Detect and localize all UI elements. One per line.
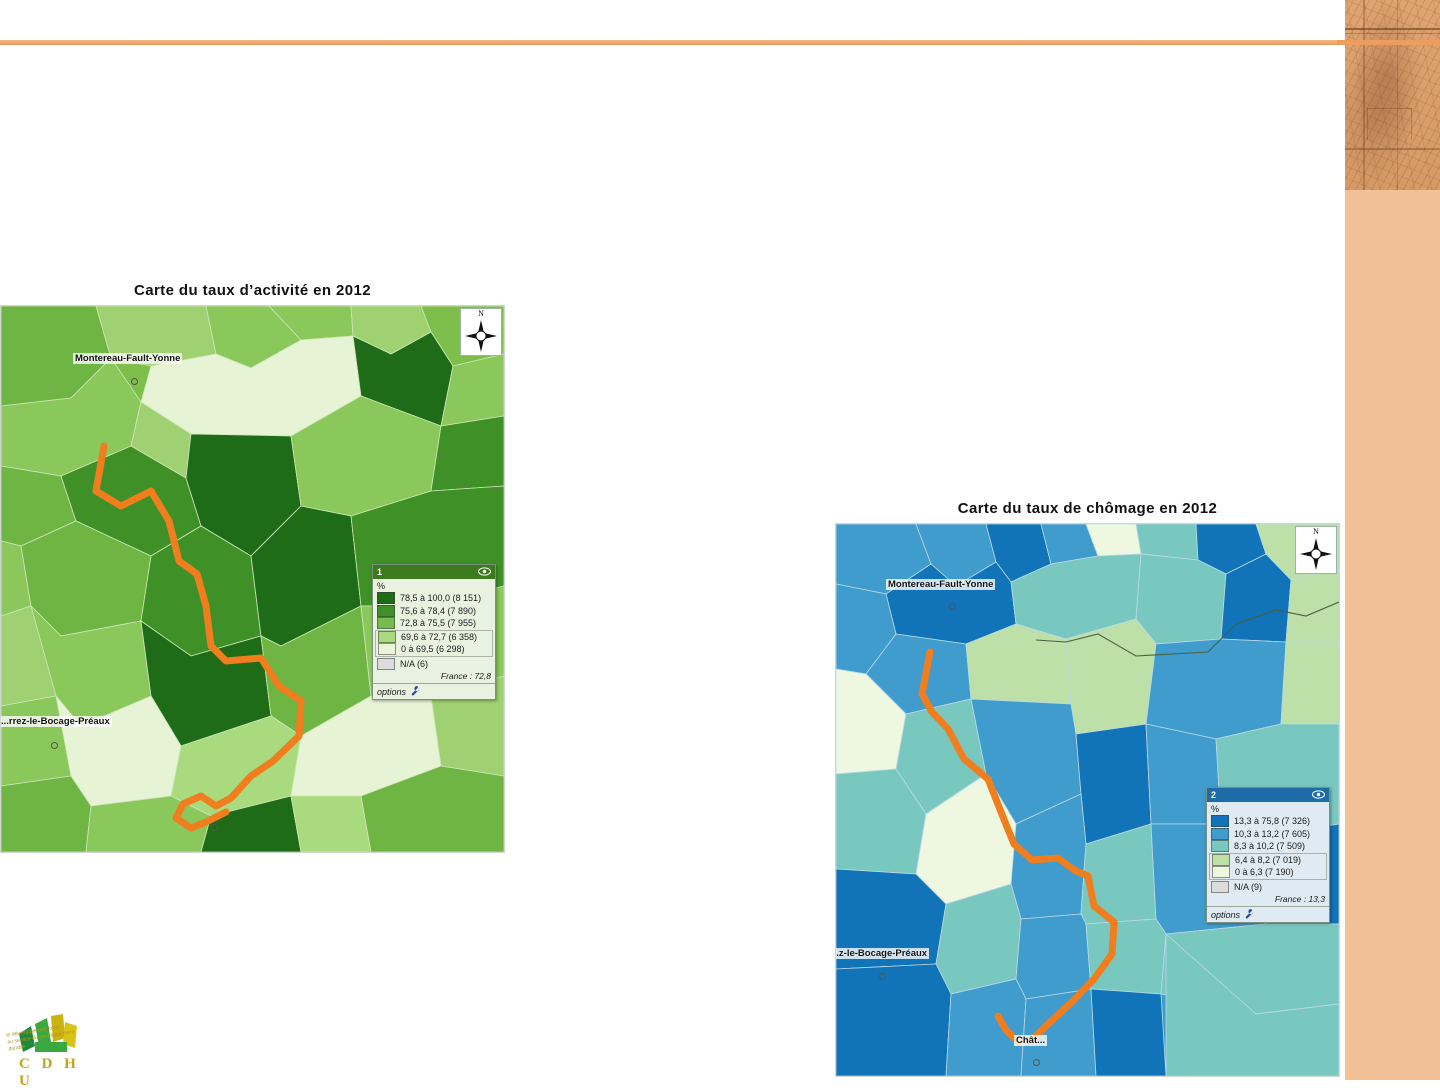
legend-national-value: France : 13,3 [1211, 893, 1325, 904]
legend-national-value: France : 72,8 [377, 670, 491, 681]
legend-swatch [1211, 881, 1229, 893]
legend-class-label: 6,4 à 8,2 (7 019) [1235, 855, 1301, 865]
city-label: ...z-le-Bocage-Préaux [835, 948, 929, 959]
legend-swatch [377, 605, 395, 617]
figure-taux-chomage: Carte du taux de chômage en 2012 [835, 500, 1340, 1077]
legend-class-row: 8,3 à 10,2 (7 509) [1211, 840, 1325, 853]
map-title-activite: Carte du taux d’activité en 2012 [0, 282, 505, 299]
legend-class-label: 13,3 à 75,8 (7 326) [1234, 816, 1310, 826]
header-accent-rule [0, 40, 1345, 45]
legend-class-label: 69,6 à 72,7 (6 358) [401, 632, 477, 642]
figure-taux-activite: Carte du taux d’activité en 2012 [0, 282, 505, 853]
antique-map-image [1345, 0, 1440, 190]
legend-swatch [378, 643, 396, 655]
legend-header[interactable]: 1 [373, 565, 495, 579]
legend-class-row: 13,3 à 75,8 (7 326) [1211, 815, 1325, 828]
city-dot [51, 742, 58, 749]
legend-number: 2 [1211, 790, 1216, 800]
city-label: Montereau-Fault-Yonne [886, 579, 995, 590]
legend-options-label: options [377, 687, 406, 697]
legend-class-row: 0 à 69,5 (6 298) [378, 643, 490, 656]
city-dot [131, 378, 138, 385]
compass-rose: N [1295, 526, 1337, 574]
legend-unit: % [377, 581, 491, 591]
city-dot [879, 973, 886, 980]
city-dot [211, 824, 218, 831]
legend-options-label: options [1211, 910, 1240, 920]
legend-class-label: 10,3 à 13,2 (7 605) [1234, 829, 1310, 839]
legend-class-row: 78,5 à 100,0 (8 151) [377, 592, 491, 605]
legend-swatch [378, 631, 396, 643]
city-label: Montereau-Fault-Yonne [73, 353, 182, 364]
wrench-icon[interactable] [410, 685, 421, 698]
legend-class-label: 0 à 69,5 (6 298) [401, 644, 465, 654]
legend-class-row: 6,4 à 8,2 (7 019) [1212, 854, 1324, 867]
legend-class-row: 69,6 à 72,7 (6 358) [378, 631, 490, 644]
map-canvas-chomage[interactable]: Montereau-Fault-Yonne ...z-le-Bocage-Pré… [835, 523, 1340, 1077]
legend-swatch [1212, 866, 1230, 878]
city-dot [949, 603, 956, 610]
legend-class-label: N/A (9) [1234, 882, 1262, 892]
map-canvas-activite[interactable]: Montereau-Fault-Yonne ...rrez-le-Bocage-… [0, 305, 505, 853]
legend-class-label: 75,6 à 78,4 (7 890) [400, 606, 476, 616]
legend-swatch [377, 658, 395, 670]
legend-class-row: 75,6 à 78,4 (7 890) [377, 605, 491, 618]
legend-unit: % [1211, 804, 1325, 814]
compass-rose: N [460, 308, 502, 356]
side-decoration-panel [1345, 0, 1440, 1080]
legend-swatch [1211, 840, 1229, 852]
legend-swatch [1211, 828, 1229, 840]
legend-class-label: 8,3 à 10,2 (7 509) [1234, 841, 1305, 851]
side-accent-rule [1337, 40, 1440, 45]
legend-header[interactable]: 2 [1207, 788, 1329, 802]
legend-number: 1 [377, 567, 382, 577]
eye-icon[interactable] [1312, 790, 1325, 801]
legend-class-label: 72,8 à 75,5 (7 955) [400, 618, 476, 628]
map-legend-chomage[interactable]: 2 % 13,3 à 75,8 (7 326) 10,3 à 13,2 (7 6… [1206, 787, 1330, 923]
legend-class-row: N/A (9) [1211, 881, 1325, 894]
legend-class-row: 10,3 à 13,2 (7 605) [1211, 828, 1325, 841]
legend-class-label: 78,5 à 100,0 (8 151) [400, 593, 481, 603]
city-dot [1033, 1059, 1040, 1066]
legend-swatch [377, 617, 395, 629]
legend-options-button[interactable]: options [373, 683, 495, 699]
city-label: ...rrez-le-Bocage-Préaux [0, 716, 112, 727]
legend-class-row: 72,8 à 75,5 (7 955) [377, 617, 491, 630]
legend-swatch [1212, 854, 1230, 866]
legend-class-row: N/A (6) [377, 658, 491, 671]
legend-swatch [377, 592, 395, 604]
city-label: Chât... [1014, 1035, 1047, 1046]
legend-options-button[interactable]: options [1207, 906, 1329, 922]
wrench-icon[interactable] [1244, 908, 1255, 921]
legend-class-label: N/A (6) [400, 659, 428, 669]
map-title-chomage: Carte du taux de chômage en 2012 [835, 500, 1340, 517]
legend-class-row: 0 à 6,3 (7 190) [1212, 866, 1324, 879]
legend-class-label: 0 à 6,3 (7 190) [1235, 867, 1294, 877]
logo-acronym: C D H U [19, 1056, 95, 1090]
map-legend-activite[interactable]: 1 % 78,5 à 100,0 (8 151) 75,6 à 78,4 (7 … [372, 564, 496, 700]
eye-icon[interactable] [478, 567, 491, 578]
cdhu-logo: le développement local au service du dév… [5, 1012, 95, 1078]
legend-swatch [1211, 815, 1229, 827]
